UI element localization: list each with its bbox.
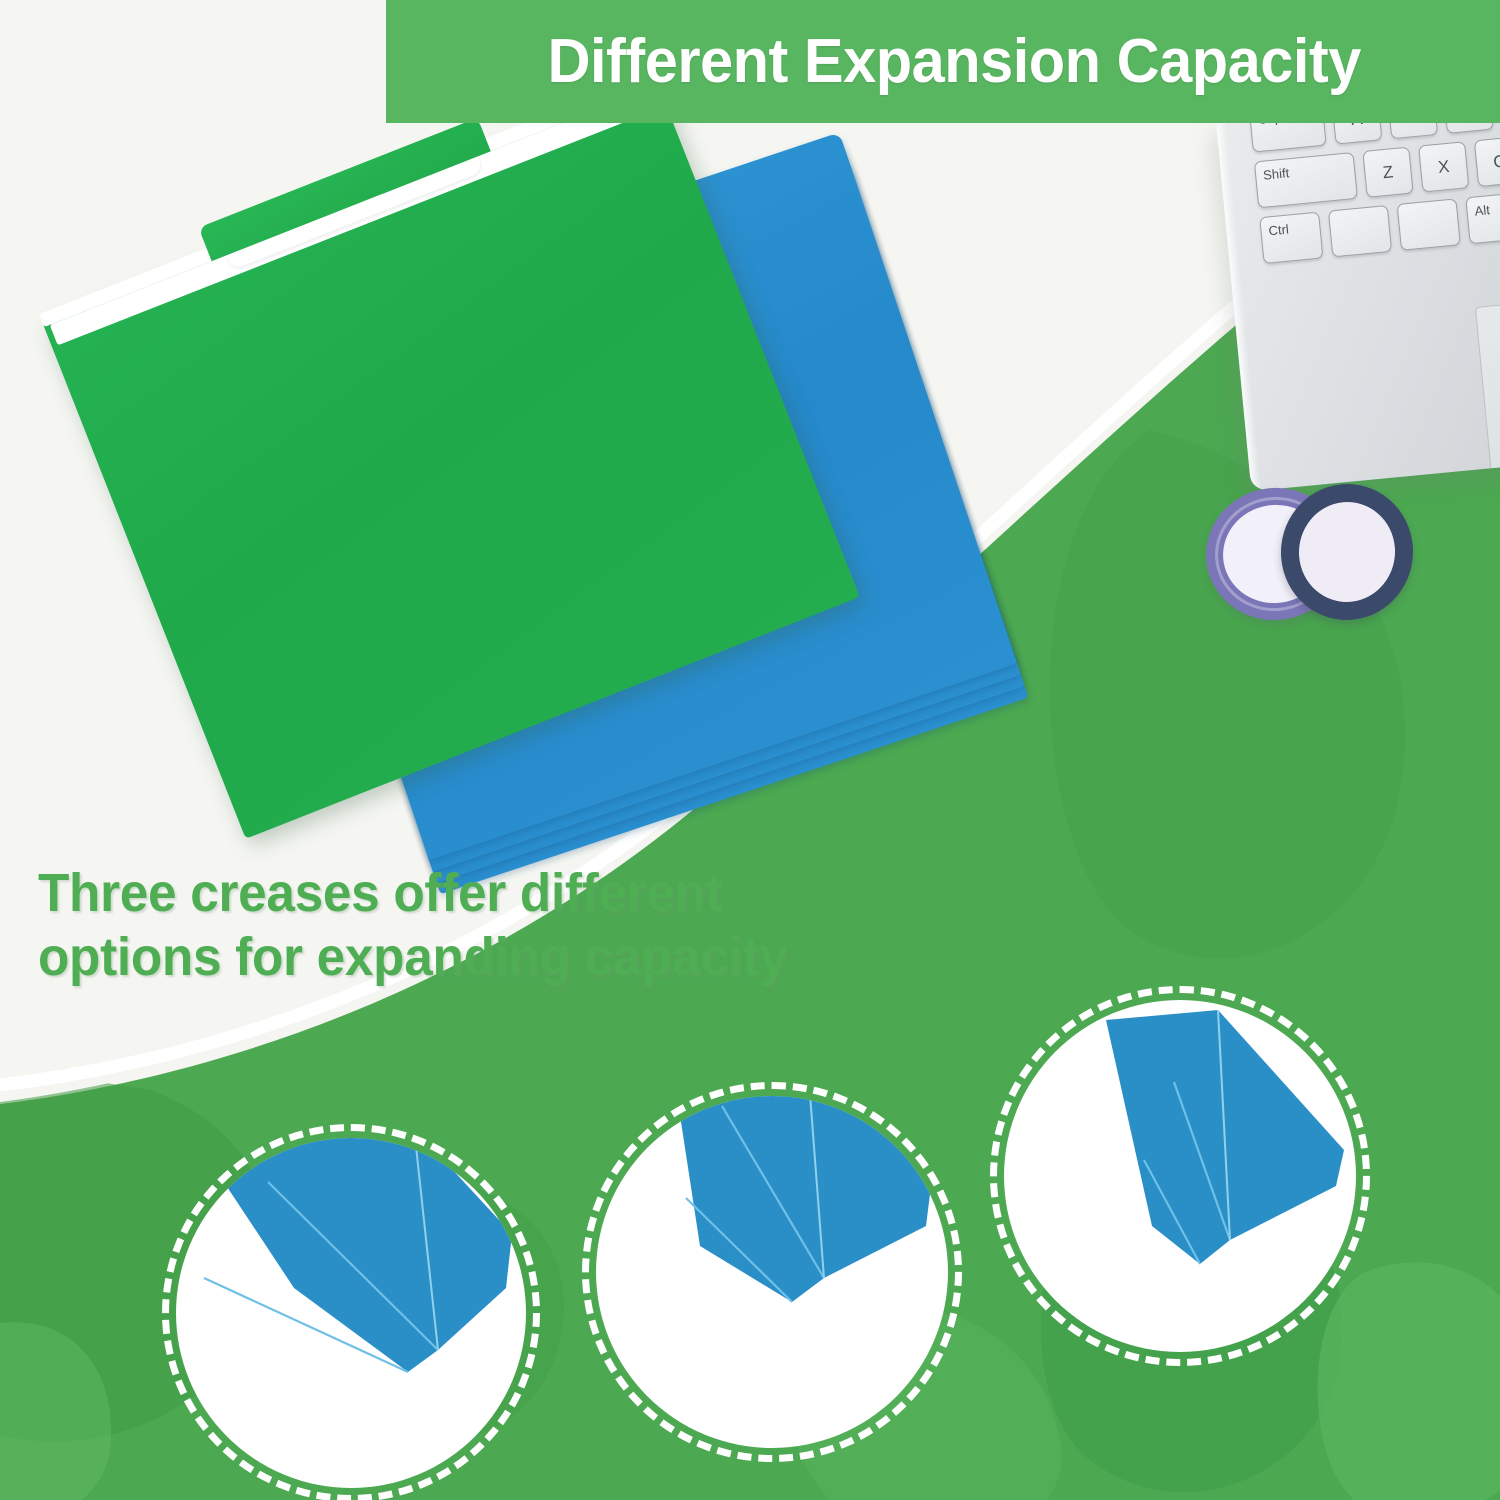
key-fn [1328,205,1392,258]
key-alt: Alt [1465,192,1500,245]
key-z: Z [1362,147,1413,198]
key-label: C [1476,150,1500,174]
tagline: Three creases offer different options fo… [38,862,874,989]
key-shift: Shift [1254,152,1358,208]
key-label: Z [1365,161,1412,185]
header-banner: Different Expansion Capacity [386,0,1500,123]
laptop-keyboard: Caps A S D F Shift Z X C V Ctrl [1216,85,1500,492]
key-label: X [1420,155,1467,179]
crease-callout-1-ring [162,1124,540,1500]
product-infographic: Caps A S D F Shift Z X C V Ctrl [0,0,1500,1500]
crease-callout-2-ring [582,1082,962,1462]
page-title: Different Expansion Capacity [525,31,1361,93]
crease-callout-3-ring [990,986,1370,1366]
key-win [1397,198,1461,251]
tagline-line-2: options for expanding capacity [38,926,874,990]
key-label: Alt [1474,202,1491,218]
key-label: Shift [1263,165,1290,182]
key-c: C [1474,136,1500,187]
laptop-trackpad [1475,289,1500,479]
green-blob [0,1322,111,1500]
key-x: X [1418,141,1469,192]
tagline-line-1: Three creases offer different [38,862,874,926]
key-label: Ctrl [1268,222,1290,239]
key-ctrl: Ctrl [1259,212,1323,265]
